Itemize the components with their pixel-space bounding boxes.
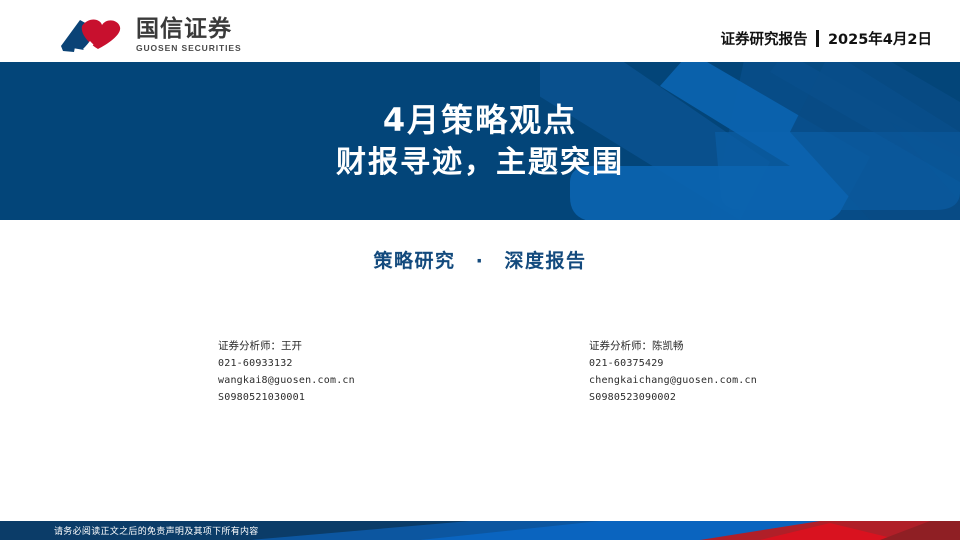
header-meta: 证券研究报告 2025年4月2日 [720,28,932,49]
header-divider [816,30,819,47]
analyst-email[interactable]: wangkai8@guosen.com.cn [218,372,480,389]
category-secondary: 深度报告 [504,250,586,272]
title-banner: 4月策略观点 财报寻迹，主题突围 [0,62,960,220]
report-cover-slide: 国信证券 GUOSEN SECURITIES 证券研究报告 2025年4月2日 … [0,0,960,540]
analyst-name: 证券分析师：王开 [218,338,480,355]
analyst-phone: 021-60933132 [218,355,480,372]
category-primary: 策略研究 [374,250,456,272]
page-footer: 请务必阅读正文之后的免责声明及其项下所有内容 [0,521,960,540]
analyst-email[interactable]: chengkaichang@guosen.com.cn [589,372,960,389]
brand-logo[interactable]: 国信证券 GUOSEN SECURITIES [58,15,242,55]
brand-name-cn: 国信证券 [136,18,242,41]
brand-name-en: GUOSEN SECURITIES [136,44,242,53]
analyst-license: S0980523090002 [589,389,960,406]
analyst-contacts: 证券分析师：王开 021-60933132 wangkai8@guosen.co… [0,338,960,406]
analyst-phone: 021-60375429 [589,355,960,372]
guosen-logo-mark-icon [58,16,130,54]
banner-text-group: 4月策略观点 财报寻迹，主题突围 [0,62,960,220]
report-subtitle: 财报寻迹，主题突围 [336,146,624,179]
page-header: 国信证券 GUOSEN SECURITIES 证券研究报告 2025年4月2日 [0,0,960,62]
analyst-license: S0980521030001 [218,389,480,406]
brand-logo-text: 国信证券 GUOSEN SECURITIES [136,18,242,53]
analyst-card-1: 证券分析师：王开 021-60933132 wangkai8@guosen.co… [0,338,480,406]
report-category: 策略研究 · 深度报告 [0,246,960,273]
category-separator-dot-icon: · [476,250,485,272]
report-type-label: 证券研究报告 [720,28,807,49]
footer-disclaimer: 请务必阅读正文之后的免责声明及其项下所有内容 [54,521,259,540]
report-date: 2025年4月2日 [828,28,932,49]
report-title: 4月策略观点 [383,103,577,138]
analyst-card-2: 证券分析师：陈凯畅 021-60375429 chengkaichang@guo… [480,338,960,406]
analyst-name: 证券分析师：陈凯畅 [589,338,960,355]
